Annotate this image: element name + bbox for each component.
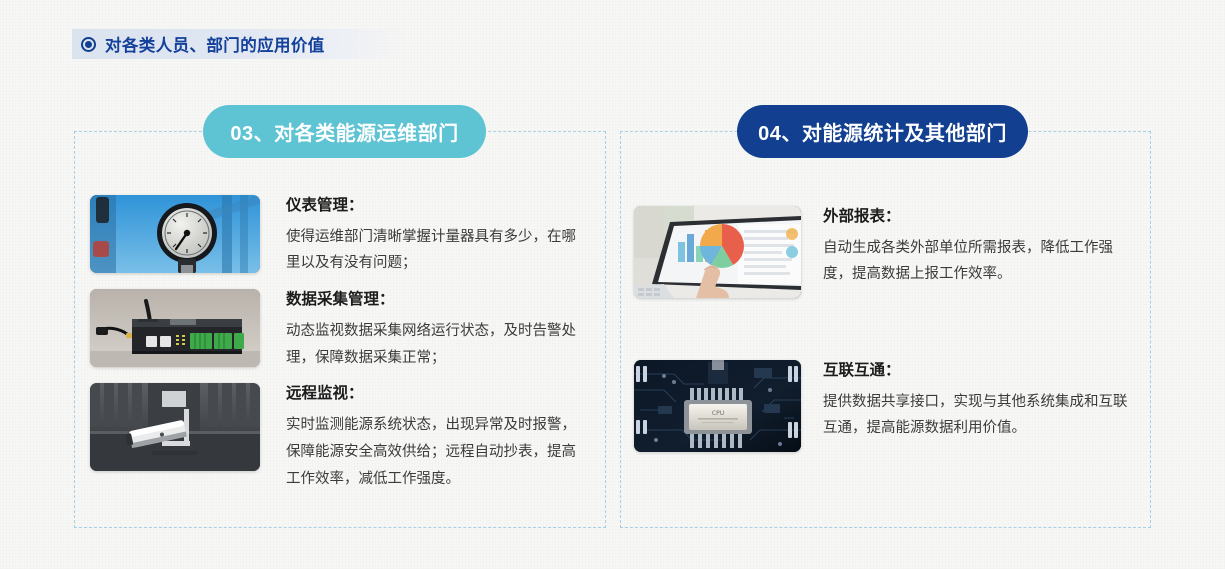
surveillance-camera-photo (90, 383, 260, 471)
page-title: 对各类人员、部门的应用价值 (105, 32, 325, 56)
list-item-title: 远程监视： (286, 385, 590, 404)
list-item-body: 动态监视数据采集网络运行状态，及时告警处理，保障数据采集正常； (286, 318, 590, 372)
list-item-text: 仪表管理： 使得运维部门清晰掌握计量器具有多少，在哪里以及有没有问题； (286, 195, 590, 277)
list-item-text: 互联互通： 提供数据共享接口，实现与其他系统集成和互联互通，提高能源数据利用价值… (823, 360, 1133, 442)
svg-text:CPU: CPU (712, 410, 724, 417)
list-item: CPU 互联互通： 提供数据共享接口，实现与其他系统集成和互联互通 (634, 360, 1134, 452)
list-item: 数据采集管理： 动态监视数据采集网络运行状态，及时告警处理，保障数据采集正常； (90, 289, 590, 371)
bullseye-icon (81, 37, 96, 52)
list-item-title: 数据采集管理： (286, 291, 590, 310)
data-acquisition-gateway-photo (90, 289, 260, 367)
pill-header-04: 04、对能源统计及其他部门 (737, 105, 1028, 158)
list-item: 仪表管理： 使得运维部门清晰掌握计量器具有多少，在哪里以及有没有问题； (90, 195, 590, 277)
pill-header-03: 03、对各类能源运维部门 (203, 105, 486, 158)
list-item-body: 自动生成各类外部单位所需报表，降低工作强度，提高数据上报工作效率。 (823, 235, 1133, 289)
pressure-gauge-photo (90, 195, 260, 273)
list-item-body: 提供数据共享接口，实现与其他系统集成和互联互通，提高能源数据利用价值。 (823, 389, 1133, 443)
list-item-text: 远程监视： 实时监测能源系统状态，出现异常及时报警，保障能源安全高效供给；远程自… (286, 383, 590, 492)
list-item-title: 互联互通： (823, 362, 1133, 381)
list-item-body: 使得运维部门清晰掌握计量器具有多少，在哪里以及有没有问题； (286, 224, 590, 278)
list-item: 外部报表： 自动生成各类外部单位所需报表，降低工作强度，提高数据上报工作效率。 (634, 206, 1134, 298)
laptop-charts-photo (634, 206, 801, 298)
list-item-title: 仪表管理： (286, 197, 590, 216)
section-header-bar: 对各类人员、部门的应用价值 (72, 29, 408, 59)
pill-label-04: 04、对能源统计及其他部门 (758, 117, 1007, 146)
list-item-text: 外部报表： 自动生成各类外部单位所需报表，降低工作强度，提高数据上报工作效率。 (823, 206, 1133, 288)
pill-label-03: 03、对各类能源运维部门 (230, 117, 458, 146)
panel-03-content: 仪表管理： 使得运维部门清晰掌握计量器具有多少，在哪里以及有没有问题； (90, 195, 590, 492)
list-item: 远程监视： 实时监测能源系统状态，出现异常及时报警，保障能源安全高效供给；远程自… (90, 383, 590, 492)
list-item-text: 数据采集管理： 动态监视数据采集网络运行状态，及时告警处理，保障数据采集正常； (286, 289, 590, 371)
list-item-title: 外部报表： (823, 208, 1133, 227)
panel-04-content: 外部报表： 自动生成各类外部单位所需报表，降低工作强度，提高数据上报工作效率。 (634, 206, 1134, 452)
circuit-board-cpu-photo: CPU (634, 360, 801, 452)
list-item-body: 实时监测能源系统状态，出现异常及时报警，保障能源安全高效供给；远程自动抄表，提高… (286, 412, 590, 492)
